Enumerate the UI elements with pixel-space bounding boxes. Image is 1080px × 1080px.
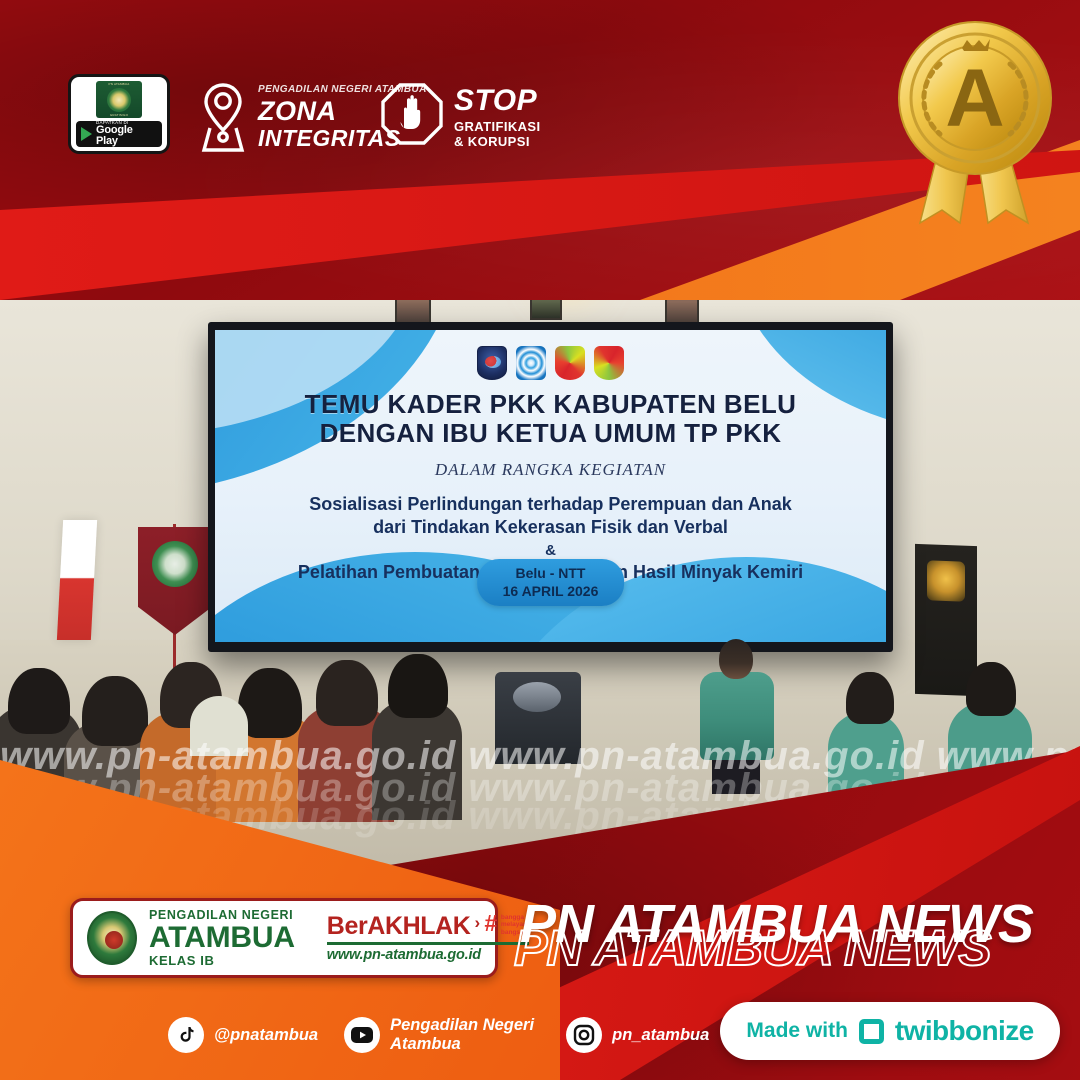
berakhlak-divider <box>327 942 529 945</box>
slide-body-line1: Sosialisasi Perlindungan terhadap Peremp… <box>215 493 886 516</box>
slide-body-line2: dari Tindakan Kekerasan Fisik dan Verbal <box>215 516 886 539</box>
slide-badge-date: 16 APRIL 2026 <box>503 583 599 601</box>
court-line3: KELAS IB <box>149 954 295 967</box>
tiktok-icon <box>168 1017 204 1053</box>
audience-head <box>8 668 70 734</box>
news-headline-outline: PN ATAMBUA NEWS <box>514 919 991 977</box>
speaker-head <box>719 639 753 679</box>
app-icon-bottom-text: GRATIS/GO <box>110 113 128 117</box>
audience-head <box>966 662 1016 716</box>
court-line2: ATAMBUA <box>149 923 295 953</box>
google-play-store-label: Google Play <box>96 125 157 147</box>
court-seal-icon <box>87 911 137 965</box>
social-item-tiktok[interactable]: @pnatambua <box>168 1017 318 1053</box>
stop-hand-icon <box>380 82 444 152</box>
award-medal-icon: A <box>880 18 1070 230</box>
twibbonize-made-with: Made with <box>746 1019 848 1043</box>
tiktok-handle: @pnatambua <box>214 1026 318 1045</box>
slide-badge-place: Belu - NTT <box>503 565 599 583</box>
court-identity-bar: PENGADILAN NEGERI ATAMBUA KELAS IB BerAK… <box>70 898 498 978</box>
stop-gratifikasi-logo: STOP GRATIFIKASI & KORUPSI <box>380 82 541 152</box>
google-play-labels: DAPATKAN DI Google Play <box>96 121 157 148</box>
slide-title-line1: TEMU KADER PKK KABUPATEN BELU <box>215 390 886 419</box>
twibbonize-brand: twibbonize <box>895 1015 1034 1047</box>
court-line1: PENGADILAN NEGERI <box>149 909 295 922</box>
instagram-handle: pn_atambua <box>612 1026 709 1045</box>
google-play-badge[interactable]: PN ATAMBUA GRATIS/GO DAPATKAN DI Google … <box>68 74 170 154</box>
slide-emblem-row <box>215 346 886 380</box>
berakhlak-logo: BerAKHLAK › # bangga melayani bangsa www… <box>327 914 529 962</box>
berakhlak-brand: BerAKHLAK <box>327 914 471 939</box>
berakhlak-hash-icon: # <box>484 914 497 932</box>
medal-letter: A <box>945 53 1004 144</box>
stop-text: STOP GRATIFIKASI & KORUPSI <box>454 86 541 148</box>
court-name: PENGADILAN NEGERI ATAMBUA KELAS IB <box>149 909 295 967</box>
app-icon-top-text: PN ATAMBUA <box>109 82 130 86</box>
slide-body-amp: & <box>215 541 886 561</box>
twibbonize-badge[interactable]: Made with twibbonize <box>720 1002 1060 1060</box>
map-pin-icon <box>196 80 250 154</box>
presentation-screen: TEMU KADER PKK KABUPATEN BELU DENGAN IBU… <box>208 322 893 652</box>
slide-title-line2: DENGAN IBU KETUA UMUM TP PKK <box>215 419 886 448</box>
slide-title: TEMU KADER PKK KABUPATEN BELU DENGAN IBU… <box>215 390 886 448</box>
app-icon: PN ATAMBUA GRATIS/GO <box>96 81 142 118</box>
social-item-youtube[interactable]: Pengadilan Negeri Atambua <box>344 1016 540 1055</box>
circle-emblem <box>516 346 546 380</box>
youtube-icon <box>344 1017 380 1053</box>
presentation-slide: TEMU KADER PKK KABUPATEN BELU DENGAN IBU… <box>215 330 886 642</box>
berakhlak-brand-row: BerAKHLAK › # bangga melayani bangsa <box>327 914 529 939</box>
poster-canvas: TEMU KADER PKK KABUPATEN BELU DENGAN IBU… <box>0 0 1080 1080</box>
stop-line2: GRATIFIKASI <box>454 120 541 133</box>
google-play-icon <box>81 127 92 141</box>
institution-flag <box>915 544 977 696</box>
audience-head <box>846 672 894 724</box>
app-icon-seal <box>107 88 131 112</box>
instagram-icon <box>566 1017 602 1053</box>
twibbonize-icon <box>859 1019 884 1044</box>
youtube-channel: Pengadilan Negeri Atambua <box>390 1016 540 1055</box>
indonesia-flag <box>57 520 97 640</box>
slide-subtitle: DALAM RANGKA KEGIATAN <box>215 460 886 480</box>
pkk-emblem-2 <box>594 346 624 380</box>
website-url[interactable]: www.pn-atambua.go.id <box>327 948 529 963</box>
shield-emblem <box>477 346 507 380</box>
social-item-instagram[interactable]: pn_atambua <box>566 1017 709 1053</box>
google-play-button[interactable]: DAPATKAN DI Google Play <box>76 121 162 147</box>
pkk-emblem-1 <box>555 346 585 380</box>
audience-head <box>388 654 448 718</box>
stop-line1: STOP <box>454 86 541 116</box>
stop-line3: & KORUPSI <box>454 135 541 148</box>
berakhlak-tick: › <box>474 914 480 931</box>
audience-head <box>316 660 378 726</box>
slide-date-badge: Belu - NTT 16 APRIL 2026 <box>477 559 625 606</box>
